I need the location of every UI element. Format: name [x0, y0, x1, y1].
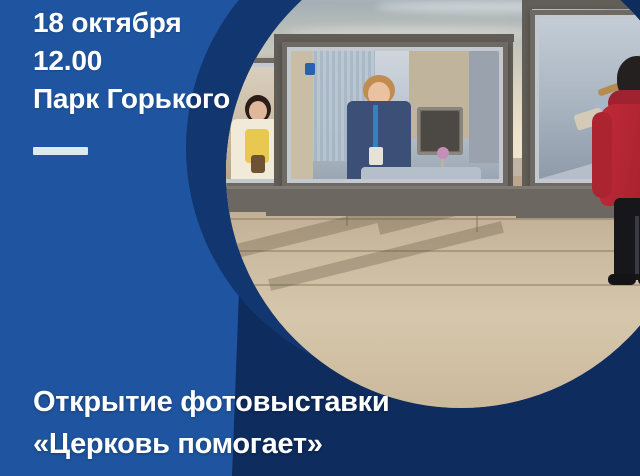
headline-place: Парк Горького: [33, 80, 283, 118]
iv-bag: [437, 147, 449, 159]
plinth: [266, 186, 522, 216]
lanyard: [373, 105, 378, 149]
frame-beam: [274, 34, 514, 42]
poster-canvas: Церковь помогает: [0, 0, 640, 476]
trouser-gap: [635, 216, 639, 274]
headline-date: 18 октября: [33, 4, 283, 42]
exhibition-photograph: Церковь помогает: [226, 0, 640, 408]
arm: [592, 112, 612, 198]
panel-woman-blue-dress: Церковь помогает: [282, 42, 508, 188]
photo-circle: Церковь помогает: [226, 0, 640, 408]
visitor-red-jacket: [592, 56, 640, 288]
footer-title-line1: Открытие фотовыставки: [33, 386, 389, 419]
held-object: [251, 155, 265, 173]
frame-beam: [522, 0, 640, 9]
window: [469, 51, 499, 163]
figure-nurse: [343, 75, 415, 179]
panel-image: Церковь помогает: [291, 51, 499, 179]
monitor-screen: [421, 111, 459, 151]
headline-block: 18 октября 12.00 Парк Горького: [33, 4, 283, 118]
bed: [361, 167, 481, 179]
shoe-left: [608, 274, 636, 285]
footer-title-line2: «Церковь помогает»: [33, 428, 323, 461]
headline-time: 12.00: [33, 42, 283, 80]
sign: [305, 63, 315, 75]
divider-rule: [33, 147, 88, 155]
badge: [369, 147, 383, 165]
